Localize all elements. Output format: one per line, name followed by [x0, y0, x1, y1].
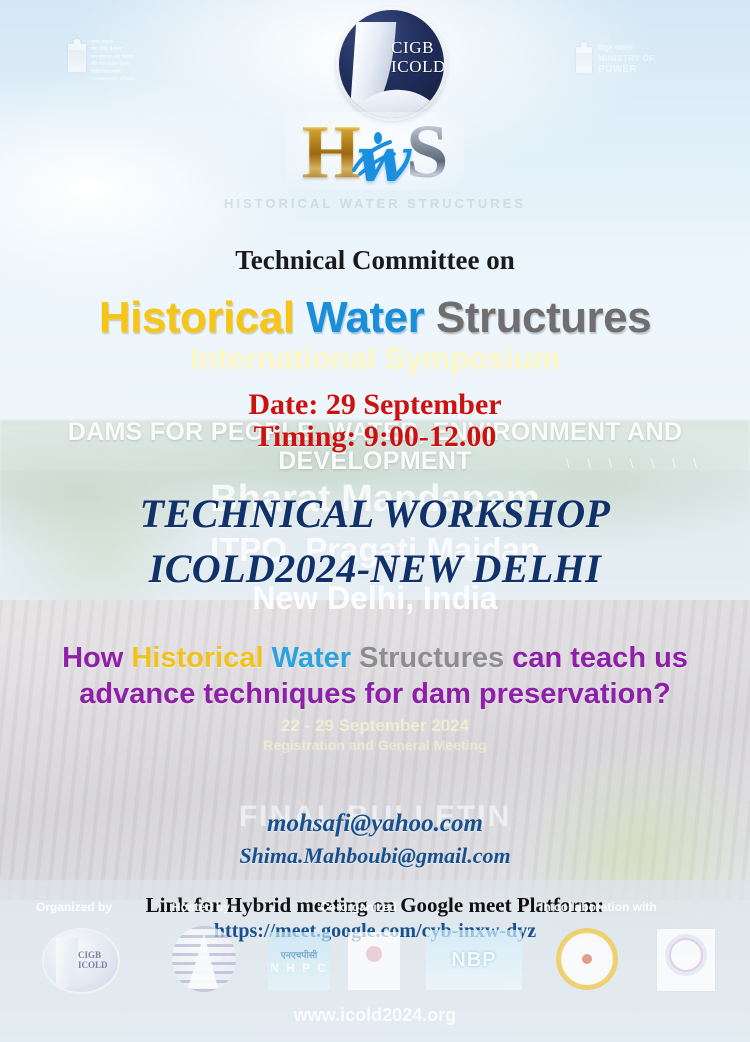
cwc-footer-logo: [172, 926, 236, 992]
government-of-india-emblem: भारत सरकार जल शक्ति मंत्रालय जल संसाधन, …: [68, 36, 136, 82]
nbp-label: NBP: [451, 949, 496, 972]
icold-logo-line-2: ICOLD: [391, 57, 444, 76]
emblem-left-line-4: केंद्रीय जल आयोग: [91, 69, 136, 74]
title-word-structures: Structures: [436, 293, 651, 342]
question-part-1: How: [62, 642, 131, 674]
ministry-line-2: POWER: [598, 64, 655, 76]
ashoka-emblem-icon: [576, 40, 592, 82]
emblem-left-line-1: जल शक्ति मंत्रालय: [91, 46, 136, 51]
emblem-left-text-block: भारत सरकार जल शक्ति मंत्रालय जल संसाधन, …: [91, 36, 136, 81]
event-date: Date: 29 September: [0, 388, 750, 422]
icold-footer-line-2: ICOLD: [78, 960, 108, 970]
icold-logo-text: CIGB ICOLD: [391, 38, 444, 76]
emblem-left-line-3: और गंगा संरक्षण विभाग: [91, 61, 136, 66]
contact-email-secondary[interactable]: Shima.Mahboubi@gmail.com: [0, 843, 750, 869]
certificate-mandala-icon: [669, 938, 703, 972]
icold-footer-logo: CIGB ICOLD: [44, 930, 118, 992]
nhpc-footer-logo: एनएचपीसी N H P C: [268, 932, 330, 990]
question-word-structures: Structures: [359, 642, 504, 674]
workshop-heading-line-2: ICOLD2024-NEW DELHI: [0, 545, 750, 592]
workshop-heading-line-1: TECHNICAL WORKSHOP: [0, 490, 750, 537]
ministry-of-power-emblem: विद्युत मंत्रालय MINISTRY OF POWER: [576, 40, 655, 82]
nbp-footer-logo: NBP: [426, 930, 522, 990]
workshop-question: How Historical Water Structures can teac…: [38, 640, 712, 712]
icold-footer-text: CIGB ICOLD: [78, 950, 108, 970]
ashoka-emblem-icon: [68, 36, 86, 82]
page-title: Historical Water Structures: [0, 293, 750, 343]
nhpc-hindi-label: एनएचपीसी: [281, 948, 318, 961]
certificate-logo: [656, 928, 716, 992]
icold-footer-curve-icon: [56, 938, 78, 988]
cwc-dam-triangle-icon: [188, 934, 218, 988]
icold-footer-line-1: CIGB: [78, 950, 108, 960]
question-sep-1: [264, 642, 272, 674]
event-timing: Timing: 9:00-12.00: [0, 420, 750, 454]
question-word-water: Water: [272, 642, 352, 674]
partner-white-logo: [348, 932, 400, 990]
partner-emblem-icon: [366, 946, 382, 962]
icold-logo-line-1: CIGB: [391, 38, 444, 57]
gold-seal-logo: [556, 928, 618, 990]
meeting-link-label: Link for Hybrid meeting on Google meet P…: [0, 893, 750, 918]
question-word-historical: Historical: [131, 642, 263, 674]
title-word-water: Water: [306, 293, 424, 342]
hws-logo-subtitle: HISTORICAL WATER STRUCTURES: [0, 196, 750, 211]
emblem-left-line-2: जल संसाधन, नदी विकास: [91, 54, 136, 59]
committee-heading: Technical Committee on: [0, 245, 750, 276]
poster-root: International Symposium DAMS FOR PEOPLE,…: [0, 0, 750, 1042]
icold-circular-logo: CIGB ICOLD: [339, 10, 444, 118]
question-sep-2: [351, 642, 359, 674]
gold-seal-core-icon: [582, 954, 592, 964]
emblem-left-line-5: Government of India: [91, 76, 136, 81]
emblem-left-line-0: भारत सरकार: [91, 39, 136, 44]
ministry-line-1: MINISTRY OF: [598, 53, 655, 64]
nhpc-label: N H P C: [270, 961, 328, 975]
ministry-text-block: विद्युत मंत्रालय MINISTRY OF POWER: [598, 40, 655, 76]
footer-logo-row: CIGB ICOLD एनएचपीसी N H P C NBP: [0, 922, 750, 992]
title-word-historical: Historical: [99, 293, 295, 342]
ministry-hindi-label: विद्युत मंत्रालय: [598, 44, 655, 53]
contact-email-primary[interactable]: mohsafi@yahoo.com: [0, 810, 750, 838]
